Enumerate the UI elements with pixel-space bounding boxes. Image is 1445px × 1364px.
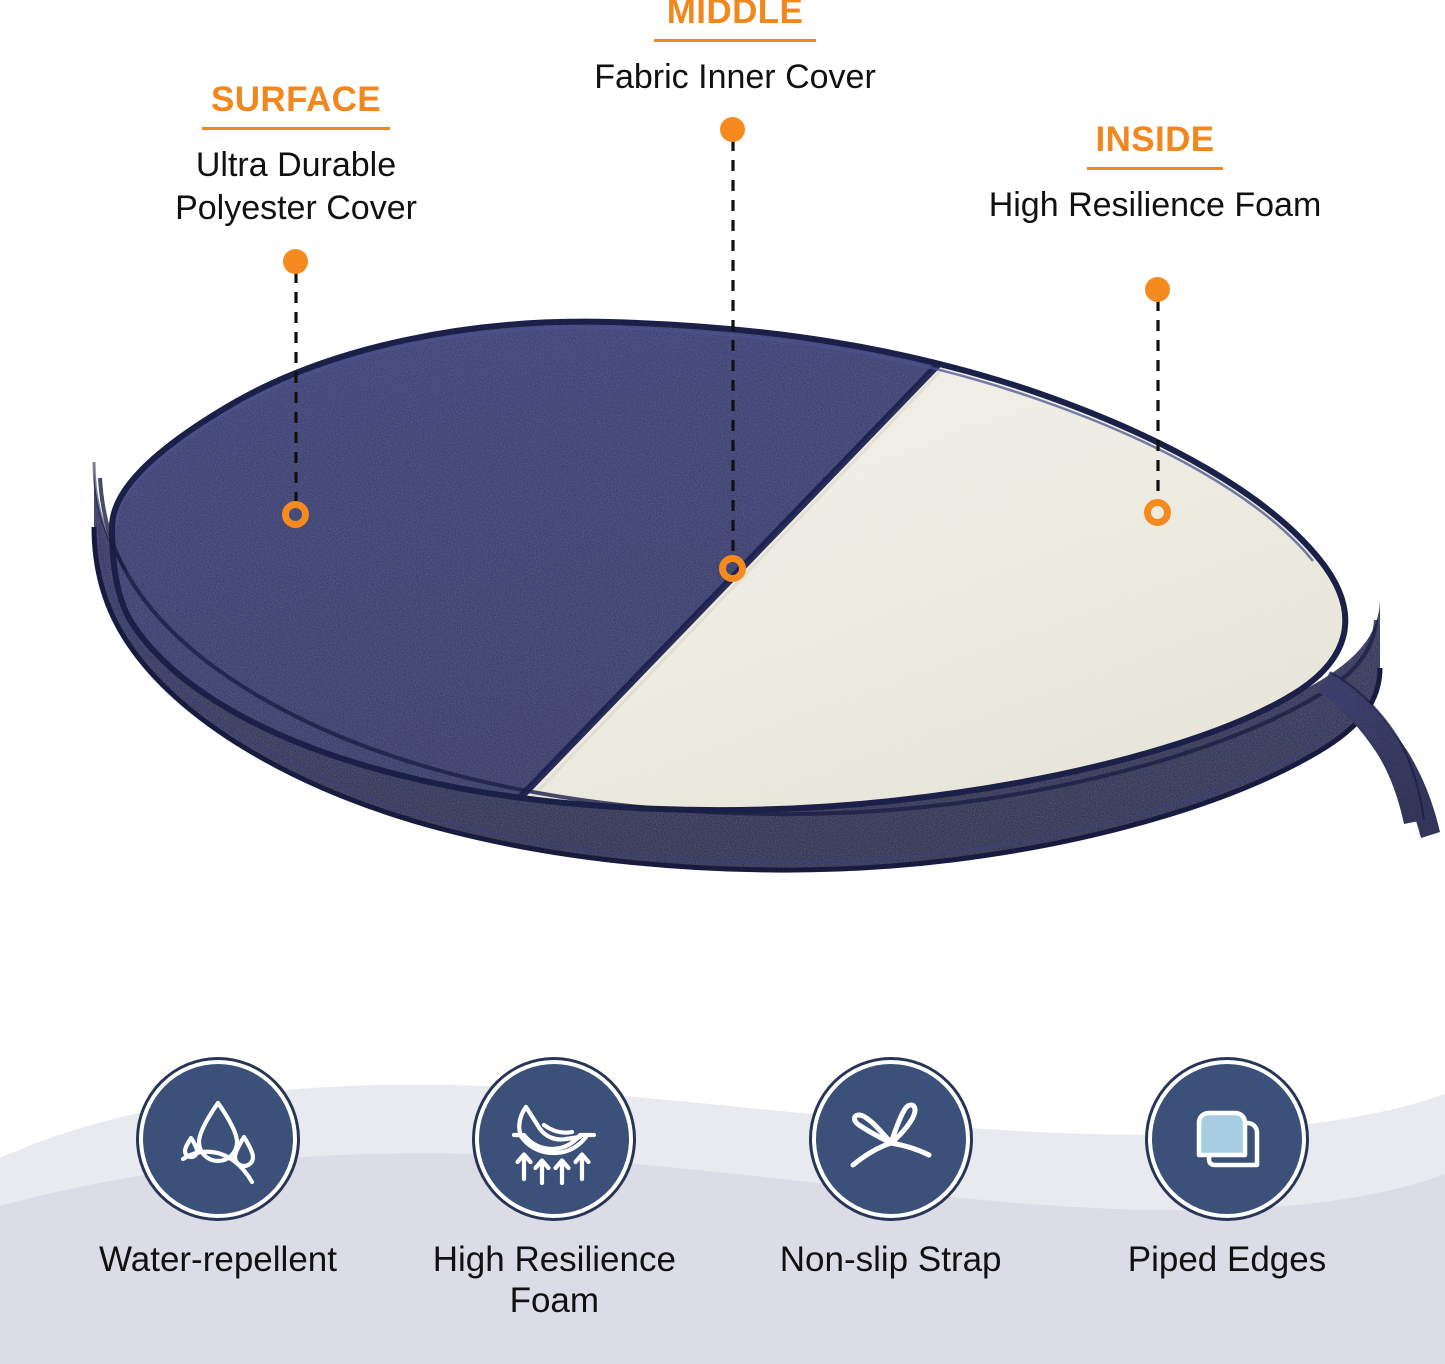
feature-water-repellent[interactable]: Water-repellent (62, 1060, 374, 1321)
stacked-squares-icon (1175, 1087, 1279, 1191)
callout-kicker-inside: INSIDE (1095, 122, 1214, 163)
water-droplet-icon (166, 1087, 270, 1191)
foam-rebound-icon (500, 1085, 608, 1193)
ribbon-bow-icon (839, 1087, 943, 1191)
callout-middle: MIDDLE Fabric Inner Cover (549, 0, 921, 99)
feature-non-slip-strap[interactable]: Non-slip Strap (735, 1060, 1047, 1321)
feature-badge-water-repellent (139, 1060, 297, 1218)
feature-label-high-resilience-foam: High Resilience Foam (433, 1240, 676, 1321)
infographic-root: SURFACE Ultra Durable Polyester Cover MI… (0, 0, 1445, 1364)
callout-inside: INSIDE High Resilience Foam (945, 122, 1365, 227)
kicker-underline-surface (202, 127, 390, 130)
feature-high-resilience-foam[interactable]: High Resilience Foam (398, 1060, 710, 1321)
feature-badge-non-slip-strap (812, 1060, 970, 1218)
kicker-underline-inside (1087, 167, 1223, 170)
feature-piped-edges[interactable]: Piped Edges (1071, 1060, 1383, 1321)
callout-surface: SURFACE Ultra Durable Polyester Cover (110, 82, 482, 231)
ring-marker-middle (719, 555, 746, 582)
dot-marker-middle (720, 117, 745, 142)
ring-marker-inside (1144, 499, 1171, 526)
callout-kicker-wrap: SURFACE (110, 82, 482, 130)
callout-kicker-wrap: INSIDE (945, 122, 1365, 170)
dot-marker-inside (1145, 277, 1170, 302)
callout-desc-inside: High Resilience Foam (945, 184, 1365, 228)
feature-label-non-slip-strap: Non-slip Strap (780, 1240, 1002, 1281)
feature-badge-high-resilience-foam (475, 1060, 633, 1218)
callout-kicker-wrap: MIDDLE (549, 0, 921, 42)
dot-marker-surface (283, 249, 308, 274)
feature-strip: Water-repellent (0, 1060, 1445, 1321)
feature-badge-piped-edges (1148, 1060, 1306, 1218)
kicker-underline-middle (654, 39, 816, 42)
feature-label-water-repellent: Water-repellent (99, 1240, 337, 1281)
callout-desc-middle: Fabric Inner Cover (549, 56, 921, 100)
ring-marker-surface (282, 501, 309, 528)
callout-kicker-surface: SURFACE (211, 82, 381, 123)
callout-kicker-middle: MIDDLE (667, 0, 804, 35)
feature-label-piped-edges: Piped Edges (1128, 1240, 1326, 1281)
callout-desc-surface: Ultra Durable Polyester Cover (110, 144, 482, 231)
